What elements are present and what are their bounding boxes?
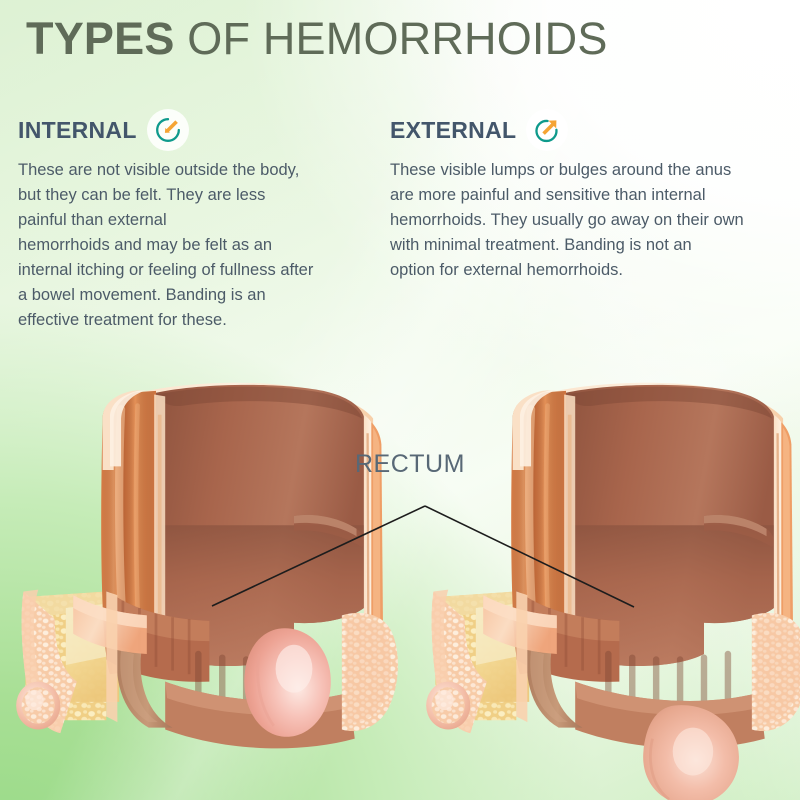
arrow-into-circle-icon — [147, 109, 189, 151]
arrow-out-of-circle-icon — [526, 109, 568, 151]
internal-body-text: These are not visible outside the body, … — [18, 158, 363, 333]
page-title-rest: OF HEMORRHOIDS — [175, 13, 608, 64]
internal-heading-row: INTERNAL — [18, 108, 363, 152]
page-title-bold: TYPES — [26, 13, 175, 64]
external-heading-row: EXTERNAL — [390, 108, 780, 152]
external-heading: EXTERNAL — [390, 117, 516, 144]
column-internal: INTERNAL These are not visible outside t… — [18, 108, 363, 333]
rectum-label: RECTUM — [355, 450, 465, 479]
external-body-text: These visible lumps or bulges around the… — [390, 158, 780, 283]
internal-heading: INTERNAL — [18, 117, 137, 144]
infographic-page: TYPES OF HEMORRHOIDS INTERNAL These are … — [0, 0, 800, 800]
column-external: EXTERNAL These visible lumps or bulges a… — [390, 108, 780, 283]
page-title: TYPES OF HEMORRHOIDS — [26, 13, 608, 65]
